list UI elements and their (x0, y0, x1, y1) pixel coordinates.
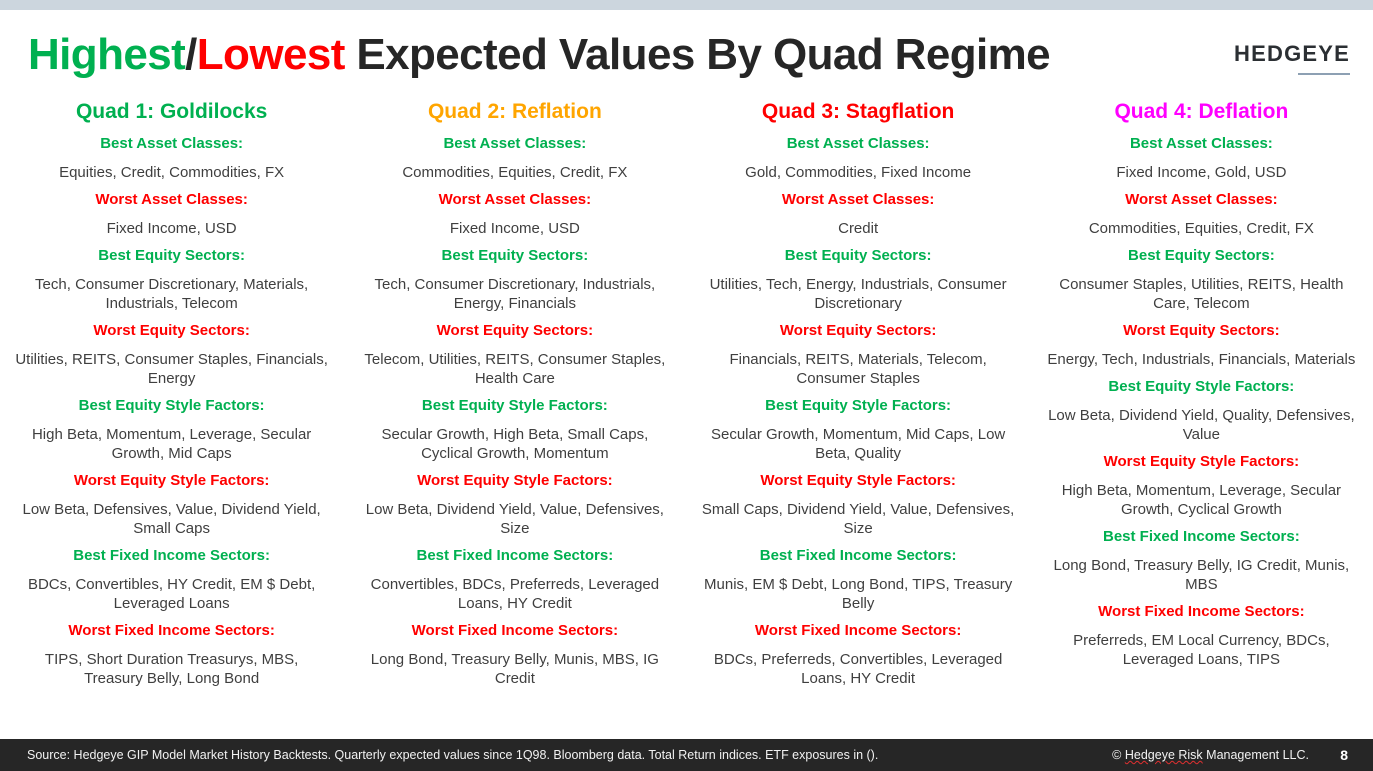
quad-2-best-asset-label: Best Asset Classes: (355, 134, 674, 153)
copyright-company-spellcheck: Hedgeye Risk (1125, 748, 1203, 762)
quad-column-4: Quad 4: Deflation Best Asset Classes: Fi… (1030, 99, 1373, 739)
quad-1-worst-fi-value: TIPS, Short Duration Treasurys, MBS, Tre… (12, 650, 331, 688)
quad-4-best-style-value: Low Beta, Dividend Yield, Quality, Defen… (1042, 406, 1361, 444)
quad-4-worst-style-label: Worst Equity Style Factors: (1042, 452, 1361, 471)
quad-3-worst-sectors-value: Financials, REITS, Materials, Telecom, C… (699, 350, 1018, 388)
quad-2-worst-sectors-label: Worst Equity Sectors: (355, 321, 674, 340)
quad-4-best-sectors-label: Best Equity Sectors: (1042, 246, 1361, 265)
quad-2-worst-sectors-value: Telecom, Utilities, REITS, Consumer Stap… (355, 350, 674, 388)
quad-3-worst-fi-value: BDCs, Preferreds, Convertibles, Leverage… (699, 650, 1018, 688)
quad-3-best-style-label: Best Equity Style Factors: (699, 396, 1018, 415)
quad-1-worst-sectors-value: Utilities, REITS, Consumer Staples, Fina… (12, 350, 331, 388)
quad-3-worst-asset-value: Credit (699, 219, 1018, 238)
quad-4-best-fi-value: Long Bond, Treasury Belly, IG Credit, Mu… (1042, 556, 1361, 594)
quad-2-worst-style-label: Worst Equity Style Factors: (355, 471, 674, 490)
copyright-suffix: Management LLC. (1203, 748, 1309, 762)
title-word-highest: Highest (28, 30, 185, 79)
quad-1-best-fi-label: Best Fixed Income Sectors: (12, 546, 331, 565)
page-title: Highest/Lowest Expected Values By Quad R… (28, 29, 1050, 81)
quad-2-worst-fi-label: Worst Fixed Income Sectors: (355, 621, 674, 640)
top-accent-bar (0, 0, 1373, 10)
quad-1-best-sectors-label: Best Equity Sectors: (12, 246, 331, 265)
brand-wordmark: HEDGEYE (1234, 42, 1350, 66)
quad-3-worst-style-label: Worst Equity Style Factors: (699, 471, 1018, 490)
quad-4-best-asset-value: Fixed Income, Gold, USD (1042, 163, 1361, 182)
quad-3-title: Quad 3: Stagflation (699, 99, 1018, 125)
quad-1-best-sectors-value: Tech, Consumer Discretionary, Materials,… (12, 275, 331, 313)
quad-4-worst-fi-value: Preferreds, EM Local Currency, BDCs, Lev… (1042, 631, 1361, 669)
quad-2-worst-asset-label: Worst Asset Classes: (355, 190, 674, 209)
quad-2-best-style-label: Best Equity Style Factors: (355, 396, 674, 415)
footer-source-note: Source: Hedgeye GIP Model Market History… (27, 748, 878, 762)
quad-4-title: Quad 4: Deflation (1042, 99, 1361, 125)
quad-column-2: Quad 2: Reflation Best Asset Classes: Co… (343, 99, 686, 739)
quad-4-best-fi-label: Best Fixed Income Sectors: (1042, 527, 1361, 546)
quad-2-worst-fi-value: Long Bond, Treasury Belly, Munis, MBS, I… (355, 650, 674, 688)
quad-2-best-fi-label: Best Fixed Income Sectors: (355, 546, 674, 565)
title-word-lowest: Lowest (197, 30, 345, 79)
slide-root: Highest/Lowest Expected Values By Quad R… (0, 0, 1373, 771)
quad-column-1: Quad 1: Goldilocks Best Asset Classes: E… (0, 99, 343, 739)
quad-1-worst-fi-label: Worst Fixed Income Sectors: (12, 621, 331, 640)
title-slash: / (185, 30, 197, 79)
quad-3-worst-sectors-label: Worst Equity Sectors: (699, 321, 1018, 340)
quad-3-worst-asset-label: Worst Asset Classes: (699, 190, 1018, 209)
slide-footer: Source: Hedgeye GIP Model Market History… (0, 739, 1373, 771)
quad-3-best-fi-label: Best Fixed Income Sectors: (699, 546, 1018, 565)
quad-3-worst-style-value: Small Caps, Dividend Yield, Value, Defen… (699, 500, 1018, 538)
hedgeye-logo: HEDGEYE (1234, 42, 1350, 75)
title-rest: Expected Values By Quad Regime (345, 30, 1050, 79)
quad-3-best-fi-value: Munis, EM $ Debt, Long Bond, TIPS, Treas… (699, 575, 1018, 613)
quad-4-best-style-label: Best Equity Style Factors: (1042, 377, 1361, 396)
quad-4-worst-asset-value: Commodities, Equities, Credit, FX (1042, 219, 1361, 238)
quad-4-worst-sectors-label: Worst Equity Sectors: (1042, 321, 1361, 340)
quad-3-best-asset-label: Best Asset Classes: (699, 134, 1018, 153)
quad-4-worst-fi-label: Worst Fixed Income Sectors: (1042, 602, 1361, 621)
quad-2-best-style-value: Secular Growth, High Beta, Small Caps, C… (355, 425, 674, 463)
quad-2-best-fi-value: Convertibles, BDCs, Preferreds, Leverage… (355, 575, 674, 613)
quad-3-worst-fi-label: Worst Fixed Income Sectors: (699, 621, 1018, 640)
quad-3-best-style-value: Secular Growth, Momentum, Mid Caps, Low … (699, 425, 1018, 463)
quad-4-worst-sectors-value: Energy, Tech, Industrials, Financials, M… (1042, 350, 1361, 369)
quad-4-worst-style-value: High Beta, Momentum, Leverage, Secular G… (1042, 481, 1361, 519)
quad-4-best-asset-label: Best Asset Classes: (1042, 134, 1361, 153)
quad-1-best-fi-value: BDCs, Convertibles, HY Credit, EM $ Debt… (12, 575, 331, 613)
quad-1-best-asset-label: Best Asset Classes: (12, 134, 331, 153)
quad-2-worst-asset-value: Fixed Income, USD (355, 219, 674, 238)
quad-2-best-asset-value: Commodities, Equities, Credit, FX (355, 163, 674, 182)
quad-4-best-sectors-value: Consumer Staples, Utilities, REITS, Heal… (1042, 275, 1361, 313)
quad-3-best-asset-value: Gold, Commodities, Fixed Income (699, 163, 1018, 182)
quad-4-worst-asset-label: Worst Asset Classes: (1042, 190, 1361, 209)
quad-1-worst-style-value: Low Beta, Defensives, Value, Dividend Yi… (12, 500, 331, 538)
footer-copyright: © Hedgeye Risk Management LLC. (1112, 748, 1309, 762)
quad-1-best-style-label: Best Equity Style Factors: (12, 396, 331, 415)
quad-2-worst-style-value: Low Beta, Dividend Yield, Value, Defensi… (355, 500, 674, 538)
quad-1-worst-style-label: Worst Equity Style Factors: (12, 471, 331, 490)
quad-2-best-sectors-label: Best Equity Sectors: (355, 246, 674, 265)
quad-1-best-style-value: High Beta, Momentum, Leverage, Secular G… (12, 425, 331, 463)
slide-header: Highest/Lowest Expected Values By Quad R… (0, 10, 1373, 95)
page-number: 8 (1340, 747, 1348, 763)
quad-1-worst-sectors-label: Worst Equity Sectors: (12, 321, 331, 340)
quad-column-3: Quad 3: Stagflation Best Asset Classes: … (687, 99, 1030, 739)
quad-3-best-sectors-label: Best Equity Sectors: (699, 246, 1018, 265)
quad-1-worst-asset-label: Worst Asset Classes: (12, 190, 331, 209)
quad-1-worst-asset-value: Fixed Income, USD (12, 219, 331, 238)
quad-3-best-sectors-value: Utilities, Tech, Energy, Industrials, Co… (699, 275, 1018, 313)
quad-1-best-asset-value: Equities, Credit, Commodities, FX (12, 163, 331, 182)
brand-underline-rule (1298, 73, 1350, 75)
quad-2-title: Quad 2: Reflation (355, 99, 674, 125)
quad-1-title: Quad 1: Goldilocks (12, 99, 331, 125)
quad-2-best-sectors-value: Tech, Consumer Discretionary, Industrial… (355, 275, 674, 313)
quad-regime-grid: Quad 1: Goldilocks Best Asset Classes: E… (0, 99, 1373, 739)
copyright-prefix: © (1112, 748, 1125, 762)
